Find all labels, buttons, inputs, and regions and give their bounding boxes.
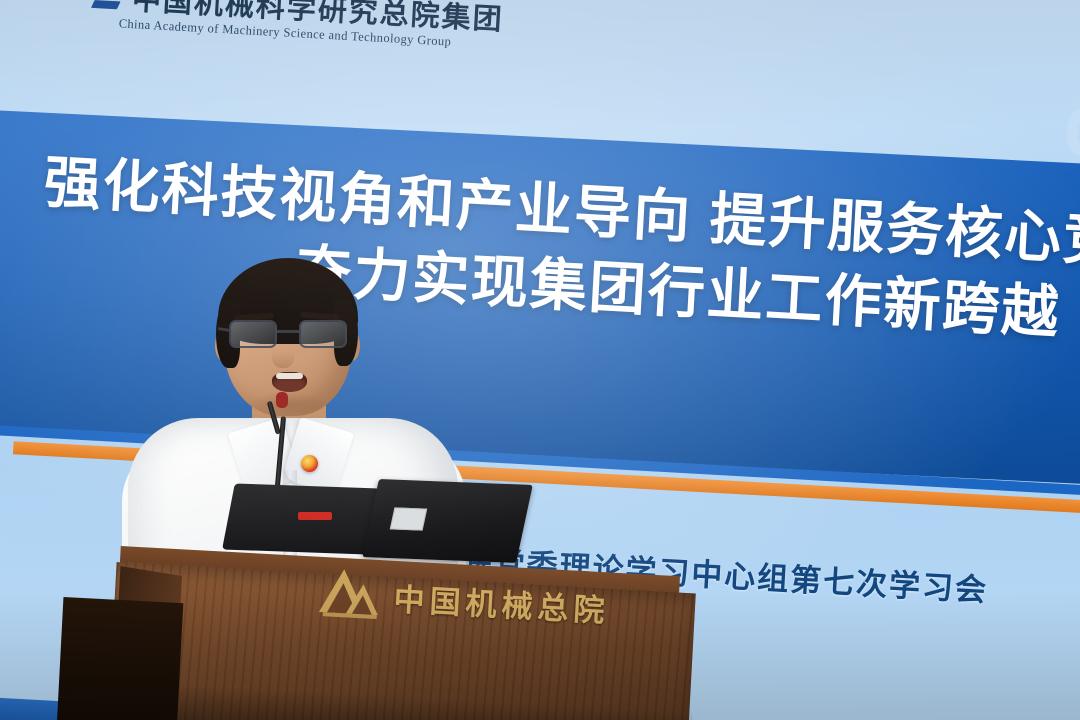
presentation-photo-scene: 中国机械科学研究总院集团 China Academy of Machinery … [0,0,1080,720]
glasses-bridge [277,330,299,333]
lens-right [299,320,347,348]
black-laptop-icon [362,479,533,563]
chin-shadow [250,392,330,416]
podium-plaque-text: 中国机械总院 [393,574,611,631]
gooseneck-microphone-icon [276,392,288,408]
microphone-indicator-light [298,512,332,520]
party-emblem-pin-icon [301,455,318,472]
mouth-speaking [272,372,307,392]
laptop-asset-label [390,507,427,530]
lens-left [229,320,277,348]
mountain-triangle-logo-icon [319,568,382,619]
nose [272,340,294,368]
podium-left-shadow [57,597,184,720]
